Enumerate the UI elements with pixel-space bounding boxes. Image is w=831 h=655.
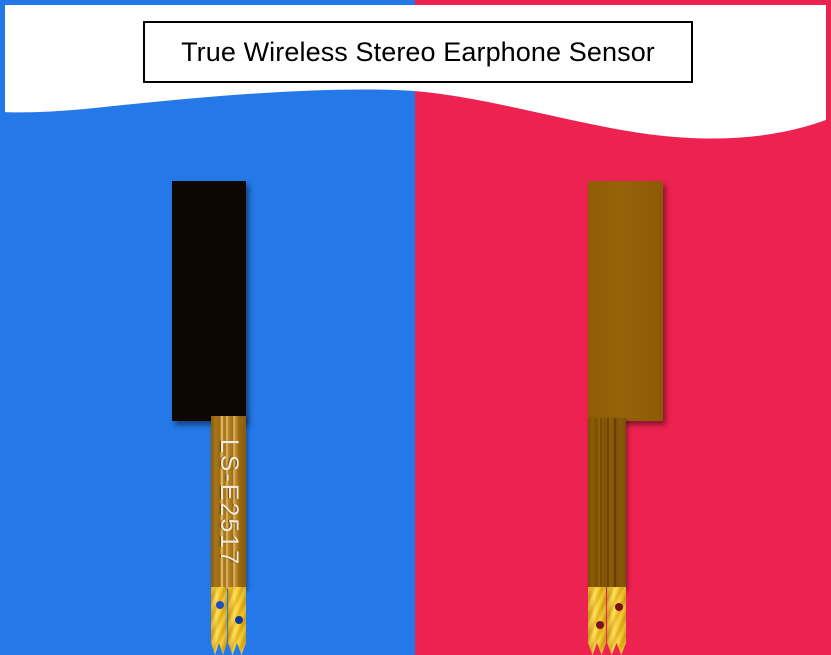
contact-pad: [607, 587, 626, 655]
sensor-flex-cable-left: [211, 416, 246, 589]
pad-hole: [615, 603, 623, 611]
flex-trace-line: [614, 418, 616, 589]
connector-pads-right: [588, 587, 626, 655]
flex-trace-line: [226, 416, 228, 589]
sensor-flex-cable-right: [588, 418, 626, 589]
flex-trace-line: [233, 416, 235, 589]
sensor-black-body: [172, 181, 246, 421]
product-image-right: [583, 178, 703, 655]
flex-trace-line: [221, 416, 223, 589]
flex-trace-line: [600, 418, 602, 589]
pad-hole: [235, 616, 243, 624]
slide-canvas: True Wireless Stereo Earphone Sensor LS-…: [0, 0, 831, 655]
connector-pads-left: [211, 587, 246, 655]
flex-trace-line: [607, 418, 609, 589]
background-panels: [0, 0, 831, 655]
product-image-left: LS-E2517: [168, 178, 288, 655]
pad-hole: [216, 601, 224, 609]
contact-pad: [211, 587, 227, 655]
pad-hole: [596, 621, 604, 629]
sensor-brown-body: [588, 181, 663, 421]
page-title: True Wireless Stereo Earphone Sensor: [181, 37, 655, 68]
title-card: True Wireless Stereo Earphone Sensor: [143, 21, 693, 83]
